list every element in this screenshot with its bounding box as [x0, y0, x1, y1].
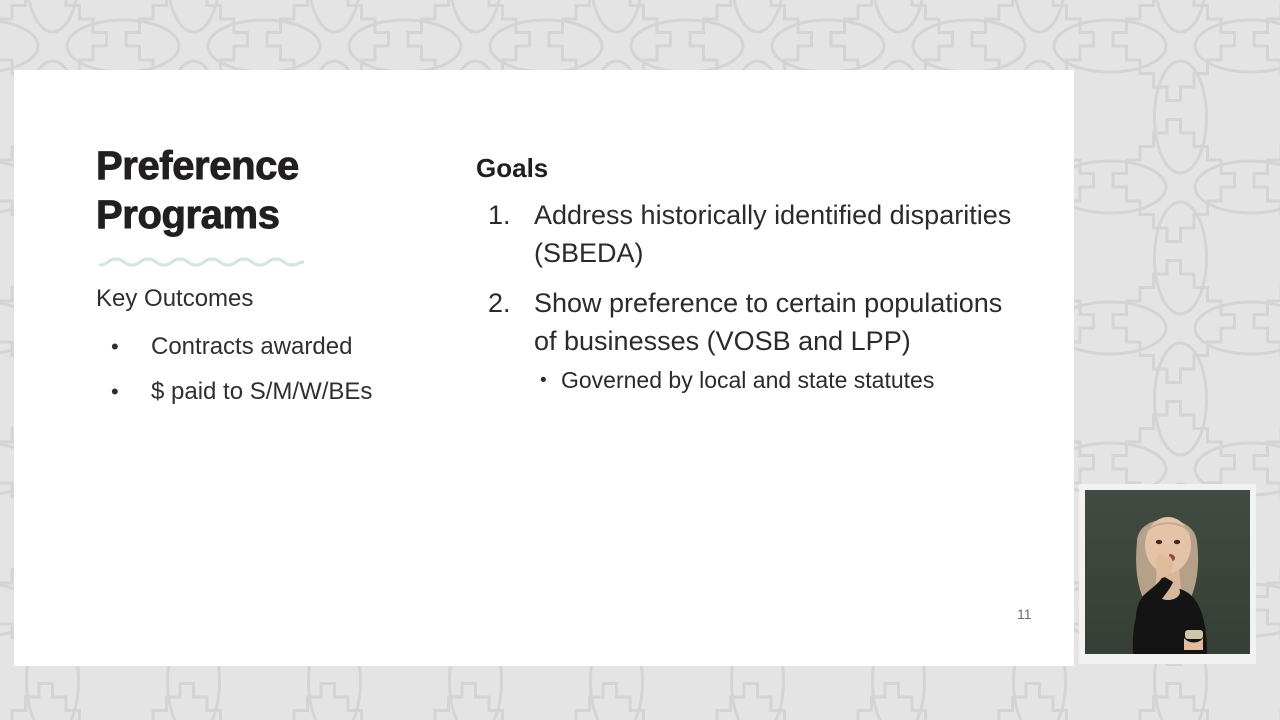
page-title-line-1: Preference: [96, 144, 299, 188]
list-item: • Contracts awarded: [96, 324, 446, 369]
goal-sub-list: • Governed by local and state statutes: [534, 364, 1016, 397]
goals-heading: Goals: [476, 152, 1016, 184]
list-item-label: Address historically identified disparit…: [534, 200, 1011, 268]
key-outcomes-heading: Key Outcomes: [96, 284, 446, 314]
list-item-label: Contracts awarded: [151, 333, 352, 360]
slide-viewer: PreferencePrograms Key Outcomes • Contra…: [0, 0, 1280, 720]
goals-list: 1. Address historically identified dispa…: [476, 196, 1016, 397]
list-item-label: Show preference to certain populations o…: [534, 288, 1002, 356]
right-column: Goals 1. Address historically identified…: [476, 152, 1016, 409]
interpreter-video-overlay[interactable]: [1079, 484, 1256, 664]
left-column: PreferencePrograms Key Outcomes • Contra…: [96, 142, 446, 414]
list-item: 2. Show preference to certain population…: [476, 284, 1016, 397]
list-item-number: 2.: [488, 284, 511, 322]
list-item-number: 1.: [488, 196, 511, 234]
bullet-icon: •: [540, 364, 547, 397]
key-outcomes-list: • Contracts awarded • $ paid to S/M/W/BE…: [96, 324, 446, 414]
bullet-icon: •: [111, 369, 119, 414]
interpreter-figure-icon: [1085, 490, 1250, 654]
bullet-icon: •: [111, 324, 119, 369]
page-number: 11: [1017, 606, 1032, 622]
wavy-line-divider-icon: [99, 255, 304, 271]
presentation-slide: PreferencePrograms Key Outcomes • Contra…: [14, 70, 1074, 666]
list-item: • Governed by local and state statutes: [534, 364, 1016, 397]
list-item-label: Governed by local and state statutes: [561, 367, 934, 393]
interpreter-video-frame[interactable]: [1085, 490, 1250, 654]
list-item-label: $ paid to S/M/W/BEs: [151, 378, 372, 405]
page-title: PreferencePrograms: [96, 142, 446, 240]
page-title-line-2: Programs: [96, 193, 280, 237]
list-item: • $ paid to S/M/W/BEs: [96, 369, 446, 414]
list-item: 1. Address historically identified dispa…: [476, 196, 1016, 272]
